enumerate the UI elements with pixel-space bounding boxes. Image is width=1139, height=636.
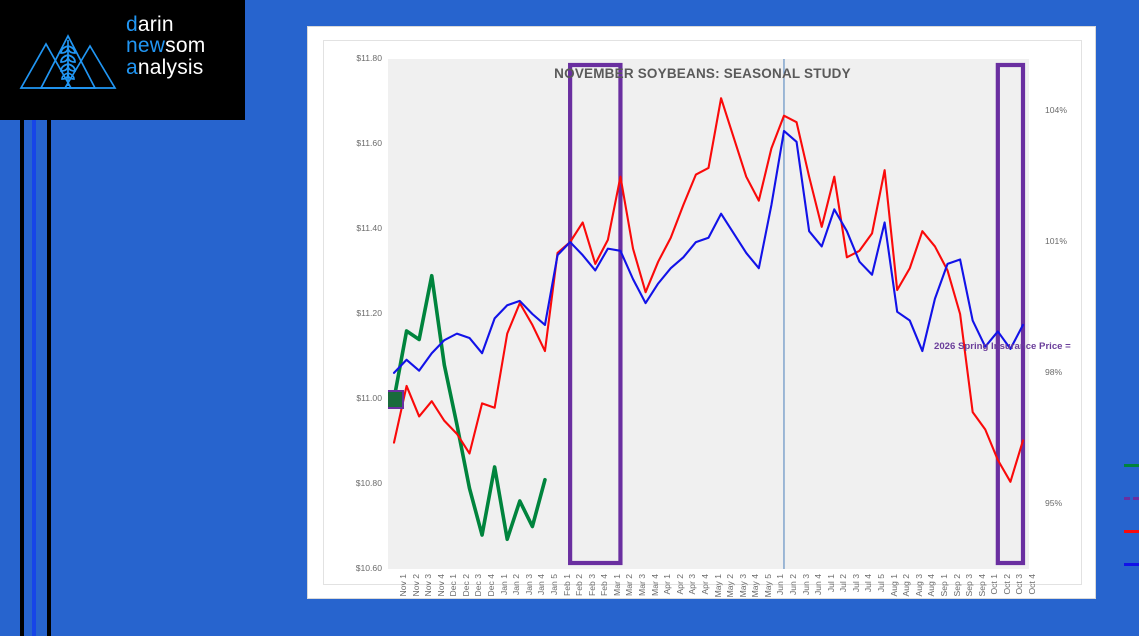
x-axis-tick: Oct 4 bbox=[1027, 574, 1037, 595]
x-axis-tick: Jun 1 bbox=[775, 574, 785, 595]
y-left-tick: $11.20 bbox=[330, 308, 382, 318]
x-axis-tick: Sep 1 bbox=[939, 574, 949, 596]
x-axis-tick: Jul 2 bbox=[838, 574, 848, 592]
x-axis-tick: Dec 3 bbox=[473, 574, 483, 596]
x-axis: Nov 1Nov 2Nov 3Nov 4Dec 1Dec 2Dec 3Dec 4… bbox=[388, 570, 1029, 628]
legend-item-5-yr-index[interactable]: 5-Yr Index bbox=[1124, 515, 1139, 548]
x-axis-tick: Feb 2 bbox=[574, 574, 584, 596]
x-axis-tick: Dec 1 bbox=[448, 574, 458, 596]
x-axis-tick: Oct 2 bbox=[1002, 574, 1012, 595]
start-marker bbox=[388, 391, 403, 408]
y-left-tick: $11.80 bbox=[330, 53, 382, 63]
x-axis-tick: Apr 4 bbox=[700, 574, 710, 595]
x-axis-tick: Oct 3 bbox=[1014, 574, 1024, 595]
y-right-tick: 98% bbox=[1045, 367, 1062, 377]
x-axis-tick: Nov 1 bbox=[398, 574, 408, 596]
y-axis-left: $10.60$10.80$11.00$11.20$11.40$11.60$11.… bbox=[324, 41, 382, 584]
highlight-box-1 bbox=[570, 65, 620, 563]
x-axis-tick: Dec 2 bbox=[461, 574, 471, 596]
chart-card: $10.60$10.80$11.00$11.20$11.40$11.60$11.… bbox=[308, 27, 1095, 598]
legend-item-insurance-price[interactable]: Insurance Price bbox=[1124, 482, 1139, 515]
x-axis-tick: Mar 2 bbox=[624, 574, 634, 596]
legend-item-2026[interactable]: 2026 bbox=[1124, 449, 1139, 482]
x-axis-tick: Apr 2 bbox=[675, 574, 685, 595]
x-axis-tick: Jan 2 bbox=[511, 574, 521, 595]
x-axis-tick: Feb 1 bbox=[562, 574, 572, 596]
brand-line-darin: darin bbox=[126, 14, 205, 35]
series-canvas bbox=[388, 59, 1029, 569]
x-axis-tick: May 4 bbox=[750, 574, 760, 597]
brand-rest-som: som bbox=[165, 34, 205, 57]
x-axis-tick: Apr 1 bbox=[662, 574, 672, 595]
x-axis-tick: Nov 4 bbox=[436, 574, 446, 596]
x-axis-tick: Jan 3 bbox=[524, 574, 534, 595]
brand-logo-block: darin newsom analysis bbox=[0, 0, 245, 120]
x-axis-tick: Jan 1 bbox=[499, 574, 509, 595]
brand-line-analysis: analysis bbox=[126, 57, 205, 78]
x-axis-tick: Mar 1 bbox=[612, 574, 622, 596]
x-axis-tick: Sep 3 bbox=[964, 574, 974, 596]
mountain-wheat-logo-icon bbox=[18, 14, 118, 104]
x-axis-tick: Jul 1 bbox=[826, 574, 836, 592]
plot-area[interactable] bbox=[388, 59, 1029, 569]
highlight-box-2 bbox=[998, 65, 1023, 563]
x-axis-tick: Jul 4 bbox=[863, 574, 873, 592]
brand-initial-d: d bbox=[126, 13, 138, 36]
insurance-price-annotation: 2026 Spring Insurance Price = bbox=[934, 341, 1071, 352]
x-axis-tick: Sep 4 bbox=[977, 574, 987, 596]
x-axis-tick: Jun 3 bbox=[801, 574, 811, 595]
x-axis-tick: Mar 3 bbox=[637, 574, 647, 596]
y-axis-right: 95%98%101%104% bbox=[1033, 41, 1081, 584]
x-axis-tick: May 5 bbox=[763, 574, 773, 597]
legend-item-10-yr-index[interactable]: 10-Yr Index bbox=[1124, 548, 1139, 581]
y-right-tick: 104% bbox=[1045, 105, 1067, 115]
brand-wordmark: darin newsom analysis bbox=[126, 14, 205, 78]
brand-rest-arin: arin bbox=[138, 13, 174, 36]
x-axis-tick: Nov 3 bbox=[423, 574, 433, 596]
x-axis-tick: Aug 3 bbox=[914, 574, 924, 596]
x-axis-tick: May 3 bbox=[738, 574, 748, 597]
x-axis-tick: Jun 4 bbox=[813, 574, 823, 595]
y-left-tick: $11.60 bbox=[330, 138, 382, 148]
x-axis-tick: Jul 5 bbox=[876, 574, 886, 592]
chart-frame[interactable]: $10.60$10.80$11.00$11.20$11.40$11.60$11.… bbox=[323, 40, 1082, 585]
brand-initial-a: a bbox=[126, 56, 138, 79]
x-axis-tick: Feb 3 bbox=[587, 574, 597, 596]
y-left-tick: $11.40 bbox=[330, 223, 382, 233]
x-axis-tick: Aug 2 bbox=[901, 574, 911, 596]
x-axis-tick: Jan 5 bbox=[549, 574, 559, 595]
x-axis-tick: May 1 bbox=[713, 574, 723, 597]
x-axis-tick: Jan 4 bbox=[536, 574, 546, 595]
y-right-tick: 101% bbox=[1045, 236, 1067, 246]
chart-legend: 2026Insurance Price5-Yr Index10-Yr Index bbox=[1124, 449, 1139, 581]
x-axis-tick: Aug 4 bbox=[926, 574, 936, 596]
x-axis-tick: Jul 3 bbox=[851, 574, 861, 592]
y-left-tick: $10.80 bbox=[330, 478, 382, 488]
x-axis-tick: May 2 bbox=[725, 574, 735, 597]
y-left-tick: $10.60 bbox=[330, 563, 382, 573]
x-axis-tick: Nov 2 bbox=[411, 574, 421, 596]
y-left-tick: $11.00 bbox=[330, 393, 382, 403]
x-axis-tick: Mar 4 bbox=[650, 574, 660, 596]
x-axis-tick: Dec 4 bbox=[486, 574, 496, 596]
x-axis-tick: Oct 1 bbox=[989, 574, 999, 595]
brand-line-newsom: newsom bbox=[126, 35, 205, 56]
x-axis-tick: Apr 3 bbox=[687, 574, 697, 595]
series-line-5-yr-index bbox=[394, 98, 1023, 482]
brand-initial-ne: ne bbox=[126, 34, 150, 57]
y-right-tick: 95% bbox=[1045, 498, 1062, 508]
x-axis-tick: Feb 4 bbox=[599, 574, 609, 596]
series-line-2026 bbox=[394, 276, 545, 540]
brand-rest-nalysis: nalysis bbox=[138, 56, 204, 79]
brand-letter-w: w bbox=[150, 34, 165, 57]
x-axis-tick: Aug 1 bbox=[889, 574, 899, 596]
x-axis-tick: Jun 2 bbox=[788, 574, 798, 595]
x-axis-tick: Sep 2 bbox=[952, 574, 962, 596]
